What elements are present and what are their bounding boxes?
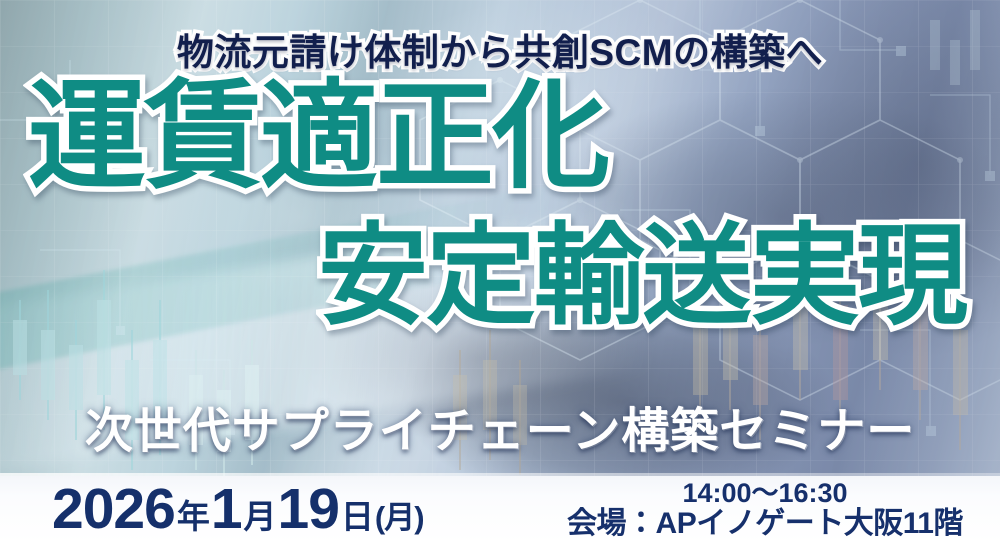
event-time: 14:00〜16:30 xyxy=(540,479,990,508)
bottom-info-row: 2026 年 1 月 19 日 (月) 14:00〜16:30 会場：APイノゲ… xyxy=(0,476,1000,543)
date-day-unit: 日 xyxy=(339,500,375,533)
headline-text: 物流元請け体制から共創SCMの構築へ xyxy=(0,22,1000,76)
date-month-unit: 月 xyxy=(242,500,278,533)
main-title-line-2: 安定輸送実現 xyxy=(0,222,1000,332)
date-month-number: 1 xyxy=(211,481,242,538)
seminar-banner: 物流元請け体制から共創SCMの構築へ 運賃適正化 安定輸送実現 次世代サプライチ… xyxy=(0,0,1000,543)
date-day-number: 19 xyxy=(278,481,339,538)
date-weekday: (月) xyxy=(375,502,424,533)
subtitle-text: 次世代サプライチェーン構築セミナー xyxy=(0,391,1000,461)
event-date: 2026 年 1 月 19 日 (月) xyxy=(0,481,540,538)
main-title: 運賃適正化 安定輸送実現 xyxy=(0,78,1000,332)
main-title-line-1: 運賃適正化 xyxy=(0,78,1000,196)
event-venue: 会場：APイノゲート大阪11階 xyxy=(540,508,990,540)
date-year-unit: 年 xyxy=(175,500,211,533)
date-year-number: 2026 xyxy=(52,481,175,538)
event-details: 14:00〜16:30 会場：APイノゲート大阪11階 xyxy=(540,479,1000,539)
